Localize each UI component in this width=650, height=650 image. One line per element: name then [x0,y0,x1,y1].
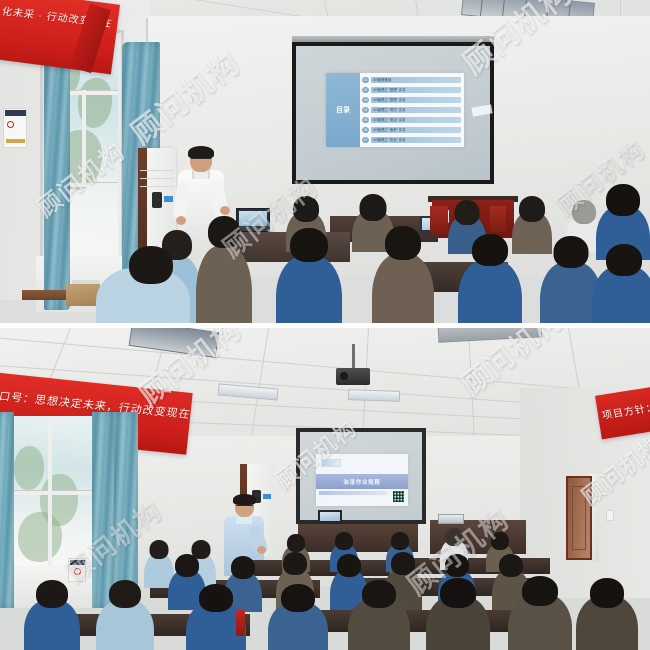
audience-member [196,216,252,323]
slide-row: 03 6S管理之 “整顿” 实务 [362,96,461,104]
audience-member [348,580,410,650]
slide-row-number: 01 [362,77,369,84]
eyeglasses-icon [191,158,211,163]
audience-member [426,578,490,650]
screen-glare [471,104,492,116]
projector-screen: 油漆作业规程 [296,428,426,524]
screen-surface: 目录 01 6S管理基础 02 6S管理之 “整理” 实务 03 [296,46,490,180]
slide-row-label: 6S管理之 “整顿” 实务 [371,97,462,104]
slide-row-number: 02 [362,87,369,94]
desktop-monitor [318,510,342,524]
projector-screen: 目录 01 6S管理基础 02 6S管理之 “整理” 实务 03 [292,42,494,184]
audience-member [96,580,154,650]
chair-back [430,206,448,234]
slide-title-page: 油漆作业规程 [316,454,408,506]
slide-row: 04 6S管理之 “清扫” 实务 [362,106,461,114]
banner-text: 项目方针：全… [600,395,650,422]
slide-row-label: 6S管理之 “清扫” 实务 [371,107,462,114]
audience-member [96,246,190,323]
ceiling-projector-icon [336,368,370,385]
slide-row-number: 06 [362,127,369,134]
slide-row-label: 6S管理之 “素养” 实务 [371,127,462,134]
slide-heading-panel: 目录 [326,73,360,147]
slide-row: 02 6S管理之 “整理” 实务 [362,86,461,94]
slide-row: 01 6S管理基础 [362,76,461,84]
qr-code-icon [393,491,404,502]
slide-row-number: 05 [362,117,369,124]
curtain-middle [92,412,114,608]
curtain-left [44,42,70,310]
audience-member [508,576,572,650]
photo-divider [0,323,650,328]
top-photo: …化未采 · 行动改变现在 目录 [0,0,650,323]
slide-heading: 目录 [336,106,350,115]
slide-subtitle-bar [319,491,387,495]
curtain-right [114,412,138,608]
audience-member [372,226,434,323]
audience-member [458,234,522,323]
cardboard-box [66,284,100,306]
bottom-photo: …口号：思想决定未来，行动改变现在 项目方针：全… [0,328,650,650]
fluorescent-light-icon [348,389,400,402]
slide-row-label: 6S管理之 “整理” 实务 [371,87,462,94]
slide-row-number: 04 [362,107,369,114]
curtain-left [0,412,14,608]
thermos-bottle [236,610,245,636]
light-switch-icon [606,510,614,521]
window-with-curtains [0,412,138,602]
slide-row: 06 6S管理之 “素养” 实务 [362,126,461,134]
slide-row: 05 6S管理之 “清洁” 实务 [362,116,461,124]
chair-back [490,206,506,232]
computer-tower [438,514,464,524]
corp-logo-icon [321,459,341,467]
projector-mount [352,344,355,370]
slide-row-label: 6S管理之 “清洁” 实务 [371,117,462,124]
slide-row: 07 6S管理之 “安全” 实务 [362,136,461,144]
wall-safety-notice-icon [68,558,86,582]
wooden-door-icon [566,476,592,560]
slide-title: 油漆作业规程 [343,478,380,486]
slide-table-of-contents: 目录 01 6S管理基础 02 6S管理之 “整理” 实务 03 [326,73,464,147]
slide-row-number: 03 [362,97,369,104]
slide-title-band: 油漆作业规程 [316,474,408,489]
slide-row-label: 6S管理之 “安全” 实务 [371,137,462,144]
audience-member [276,228,342,323]
wall-safety-notice-icon [3,108,27,148]
audience-member [592,244,650,323]
eyeglasses-icon [236,505,253,509]
audience-member [576,578,638,650]
screen-surface: 油漆作业规程 [300,432,422,520]
audience-member [24,580,80,650]
audience-member [268,584,328,650]
photo-collage: …化未采 · 行动改变现在 目录 [0,0,650,650]
slide-row-list: 01 6S管理基础 02 6S管理之 “整理” 实务 03 6S管理之 “整顿”… [360,73,464,147]
slide-row-label: 6S管理基础 [371,77,462,84]
slide-row-number: 07 [362,137,369,144]
